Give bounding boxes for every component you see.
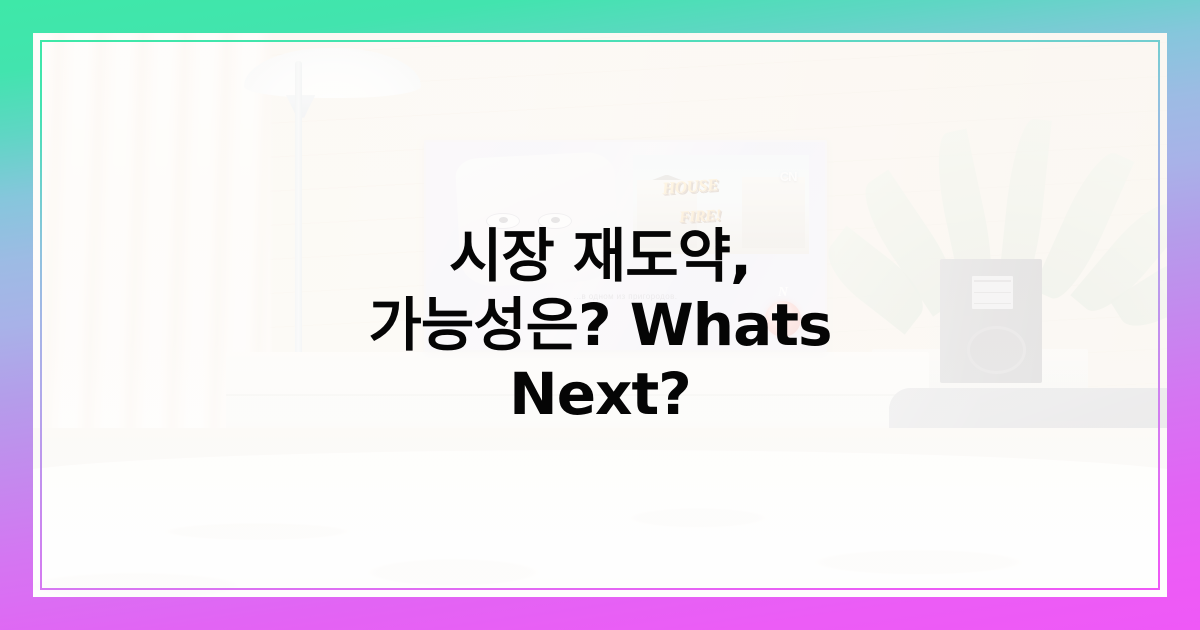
headline-line-2: 가능성은? Whats [70,291,1130,360]
thumbnail-card: HOUSE FIRE! CN ...в одном из пригородов.… [0,0,1200,630]
headline-line-3: Next? [70,360,1130,429]
headline-block: 시장 재도약, 가능성은? Whats Next? [0,222,1200,429]
patterned-rug [33,450,1167,597]
tv-channel-logo: CN [780,169,797,184]
tv-show-title-line1: HOUSE [661,175,718,199]
headline-line-1: 시장 재도약, [70,222,1130,291]
